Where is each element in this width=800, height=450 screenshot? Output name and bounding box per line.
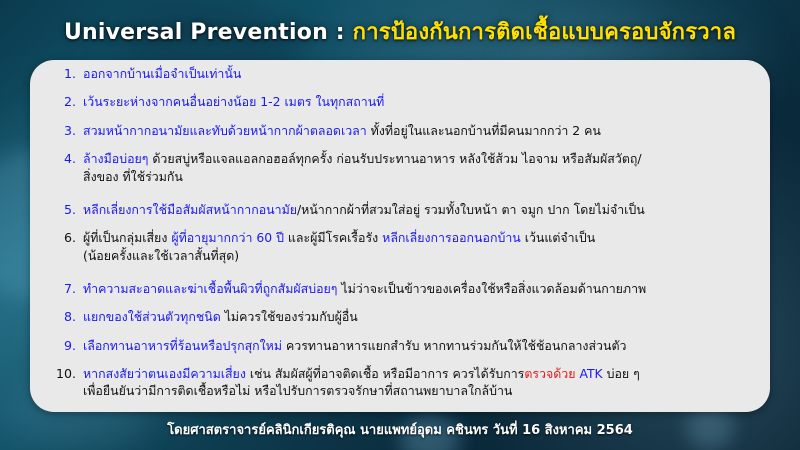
list-item: 10.หากสงสัยว่าตนเองมีความเสี่ยง เช่น สัม… bbox=[48, 368, 760, 419]
list-item-text: ผู้ที่เป็นกลุ่มเสี่ยง ผู้ที่อายุมากกว่า … bbox=[83, 232, 760, 262]
list-item: 7.ทำความสะอาดและฆ่าเชื้อพื้นผิวที่ถูกสัม… bbox=[48, 283, 760, 311]
list-item: 8.แยกของใช้ส่วนตัวทุกชนิด ไม่ควรใช้ของร่… bbox=[48, 311, 760, 339]
text-segment-blue: หลีกเลี่ยงการใช้มือสัมผัสหน้ากากอนามัย bbox=[83, 202, 297, 217]
list-item-line: แยกของใช้ส่วนตัวทุกชนิด ไม่ควรใช้ของร่วม… bbox=[83, 311, 760, 323]
list-item-number: 2. bbox=[48, 96, 83, 109]
text-segment-dark: ด้วยสบู่หรือแจลแอลกอฮอล์ทุกครั้ง ก่อนรับ… bbox=[152, 151, 641, 166]
list-item-number: 1. bbox=[48, 68, 83, 81]
text-segment-dark: ไม่ว่าจะเป็นข้าวของเครื่องใช้หรือสิ่งแวด… bbox=[341, 281, 646, 296]
list-item-line: ผู้ที่เป็นกลุ่มเสี่ยง ผู้ที่อายุมากกว่า … bbox=[83, 232, 760, 244]
list-item: 6.ผู้ที่เป็นกลุ่มเสี่ยง ผู้ที่อายุมากกว่… bbox=[48, 232, 760, 283]
list-item-number: 9. bbox=[48, 340, 83, 353]
list-item-number: 3. bbox=[48, 125, 83, 138]
list-item: 5.หลีกเลี่ยงการใช้มือสัมผัสหน้ากากอนามัย… bbox=[48, 204, 760, 232]
list-item-text: ออกจากบ้านเมื่อจำเป็นเท่านั้น bbox=[83, 68, 760, 80]
list-item: 4.ล้างมือบ่อยๆ ด้วยสบู่หรือแจลแอลกอฮอล์ท… bbox=[48, 153, 760, 204]
list-item-number: 10. bbox=[48, 368, 83, 381]
text-segment-blue: หลีกเลี่ยงการออกนอกบ้าน bbox=[382, 230, 525, 245]
text-segment-blue: หากสงสัยว่าตนเองมีความเสี่ยง bbox=[83, 366, 250, 381]
list-item-line: ทำความสะอาดและฆ่าเชื้อพื้นผิวที่ถูกสัมผั… bbox=[83, 283, 760, 295]
text-segment-dark: ผู้ที่เป็นกลุ่มเสี่ยง bbox=[83, 230, 171, 245]
list-item-number: 7. bbox=[48, 283, 83, 296]
text-segment-blue: สวมหน้ากากอนามัยและทับด้วยหน้ากากผ้าตลอด… bbox=[83, 123, 371, 138]
content-card: 1.ออกจากบ้านเมื่อจำเป็นเท่านั้น2.เว้นระย… bbox=[30, 60, 770, 412]
list-item-text: ล้างมือบ่อยๆ ด้วยสบู่หรือแจลแอลกอฮอล์ทุก… bbox=[83, 153, 760, 183]
list-item: 2.เว้นระยะห่างจากคนอื่นอย่างน้อย 1-2 เมต… bbox=[48, 96, 760, 124]
text-segment-blue: ATK bbox=[579, 366, 606, 381]
list-item-line: เลือกทานอาหารที่ร้อนหรือปรุกสุกใหม่ ควรท… bbox=[83, 340, 760, 352]
text-segment-blue: เว้นระยะห่างจากคนอื่นอย่างน้อย 1-2 เมตร … bbox=[83, 94, 384, 109]
text-segment-dark: เพื่อยืนยันว่ามีการติดเชื้อหรือไม่ หรือไ… bbox=[83, 383, 512, 398]
list-item-line: สวมหน้ากากอนามัยและทับด้วยหน้ากากผ้าตลอด… bbox=[83, 125, 760, 137]
prevention-list: 1.ออกจากบ้านเมื่อจำเป็นเท่านั้น2.เว้นระย… bbox=[48, 68, 760, 419]
list-item-text: เลือกทานอาหารที่ร้อนหรือปรุกสุกใหม่ ควรท… bbox=[83, 340, 760, 352]
title-thai: การป้องกันการติดเชื้อแบบครอบจักรวาล bbox=[353, 20, 736, 45]
list-item-line: เพื่อยืนยันว่ามีการติดเชื้อหรือไม่ หรือไ… bbox=[83, 385, 760, 397]
list-item-number: 4. bbox=[48, 153, 83, 166]
text-segment-dark: เช่น สัมผัสผู้ที่อาจติดเชื้อ หรือมีอาการ… bbox=[250, 366, 525, 381]
list-item-text: หากสงสัยว่าตนเองมีความเสี่ยง เช่น สัมผัส… bbox=[83, 368, 760, 398]
text-segment-blue: ล้างมือบ่อยๆ bbox=[83, 151, 152, 166]
list-item-number: 8. bbox=[48, 311, 83, 324]
text-segment-blue: แยกของใช้ส่วนตัวทุกชนิด bbox=[83, 309, 225, 324]
slide-canvas: Universal Prevention : การป้องกันการติดเ… bbox=[0, 0, 800, 450]
text-segment-dark: ไม่ควรใช้ของร่วมกับผู้อื่น bbox=[225, 309, 358, 324]
text-segment-dark: บ่อย ๆ bbox=[607, 366, 640, 381]
text-segment-blue: เลือกทานอาหารที่ร้อนหรือปรุกสุกใหม่ bbox=[83, 338, 286, 353]
list-item-line: หลีกเลี่ยงการใช้มือสัมผัสหน้ากากอนามัย/ห… bbox=[83, 204, 760, 216]
list-item-text: แยกของใช้ส่วนตัวทุกชนิด ไม่ควรใช้ของร่วม… bbox=[83, 311, 760, 323]
list-item-line: (น้อยครั้งและใช้เวลาสั้นที่สุด) bbox=[83, 250, 760, 262]
text-segment-dark: เว้นแต่จำเป็น bbox=[525, 230, 595, 245]
list-item-text: เว้นระยะห่างจากคนอื่นอย่างน้อย 1-2 เมตร … bbox=[83, 96, 760, 108]
list-item-number: 5. bbox=[48, 204, 83, 217]
list-item-line: ออกจากบ้านเมื่อจำเป็นเท่านั้น bbox=[83, 68, 760, 80]
text-segment-dark: /หน้ากากผ้าที่สวมใส่อยู่ รวมทั้งใบหน้า ต… bbox=[297, 202, 645, 217]
text-segment-dark: สิ่งของ ที่ใช้ร่วมกัน bbox=[83, 169, 183, 184]
list-item-line: ล้างมือบ่อยๆ ด้วยสบู่หรือแจลแอลกอฮอล์ทุก… bbox=[83, 153, 760, 165]
list-item: 1.ออกจากบ้านเมื่อจำเป็นเท่านั้น bbox=[48, 68, 760, 96]
text-segment-dark: (น้อยครั้งและใช้เวลาสั้นที่สุด) bbox=[83, 248, 239, 263]
text-segment-blue: ทำความสะอาดและฆ่าเชื้อพื้นผิวที่ถูกสัมผั… bbox=[83, 281, 341, 296]
list-item-line: เว้นระยะห่างจากคนอื่นอย่างน้อย 1-2 เมตร … bbox=[83, 96, 760, 108]
list-item-number: 6. bbox=[48, 232, 83, 245]
list-item: 3.สวมหน้ากากอนามัยและทับด้วยหน้ากากผ้าตล… bbox=[48, 125, 760, 153]
list-item-text: ทำความสะอาดและฆ่าเชื้อพื้นผิวที่ถูกสัมผั… bbox=[83, 283, 760, 295]
text-segment-dark: และผู้มีโรคเรื้อรัง bbox=[288, 230, 382, 245]
list-item: 9.เลือกทานอาหารที่ร้อนหรือปรุกสุกใหม่ คว… bbox=[48, 340, 760, 368]
page-title: Universal Prevention : การป้องกันการติดเ… bbox=[0, 14, 800, 49]
text-segment-red: ตรวจด้วย bbox=[524, 366, 579, 381]
text-segment-blue: ออกจากบ้านเมื่อจำเป็นเท่านั้น bbox=[83, 66, 241, 81]
text-segment-blue: ผู้ที่อายุมากกว่า 60 ปี bbox=[171, 230, 288, 245]
text-segment-dark: ควรทานอาหารแยกสำรับ หากทานร่วมกันให้ใช้ช… bbox=[286, 338, 626, 353]
footer-attribution: โดยศาสตราจารย์คลินิกเกียรติคุณ นายแพทย์อ… bbox=[0, 419, 800, 440]
list-item-line: หากสงสัยว่าตนเองมีความเสี่ยง เช่น สัมผัส… bbox=[83, 368, 760, 380]
title-english: Universal Prevention : bbox=[64, 20, 345, 45]
list-item-text: สวมหน้ากากอนามัยและทับด้วยหน้ากากผ้าตลอด… bbox=[83, 125, 760, 137]
text-segment-dark: ทั้งที่อยู่ในและนอกบ้านที่มีคนมากกว่า 2 … bbox=[371, 123, 601, 138]
list-item-text: หลีกเลี่ยงการใช้มือสัมผัสหน้ากากอนามัย/ห… bbox=[83, 204, 760, 216]
list-item-line: สิ่งของ ที่ใช้ร่วมกัน bbox=[83, 171, 760, 183]
